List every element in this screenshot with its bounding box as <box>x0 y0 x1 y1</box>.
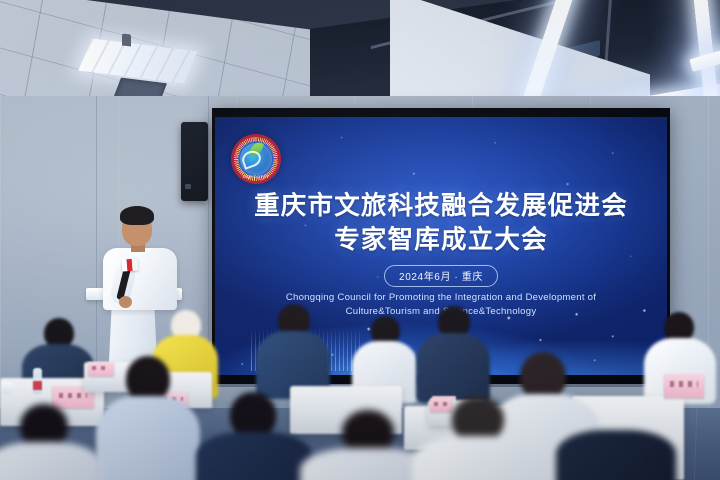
name-card <box>664 374 704 398</box>
audience-member <box>196 392 312 480</box>
screen-title-line-1: 重庆市文旅科技融合发展促进会 <box>254 192 628 220</box>
audience-body <box>416 333 490 403</box>
microphone-flag <box>122 258 139 271</box>
presenter-hair <box>120 206 154 225</box>
presenter-at-podium <box>96 206 188 302</box>
audience-head <box>520 352 566 400</box>
wall-mounted-speaker <box>181 122 208 201</box>
sprinkler-head-icon <box>122 34 131 47</box>
audience-body <box>556 430 676 480</box>
audience-body <box>0 442 102 480</box>
audience-member <box>412 396 544 480</box>
audience-member <box>556 430 676 480</box>
screen-title-line-2: 专家智库成立大会 <box>215 223 667 257</box>
audience-member <box>0 404 102 480</box>
screen-main-title: 重庆市文旅科技融合发展促进会 专家智库成立大会 <box>215 189 667 257</box>
audience-body <box>196 432 312 480</box>
audience-member <box>416 306 490 400</box>
audience-body <box>96 396 200 480</box>
audience-member <box>96 356 200 480</box>
audience-body <box>412 436 544 480</box>
audience-member <box>256 304 330 396</box>
chongqing-council-emblem-icon: CCPIDCTST <box>231 134 281 184</box>
emblem-subtext: CCPIDCTST <box>231 174 281 179</box>
water-bottle <box>33 368 42 394</box>
drinking-cup <box>2 382 13 394</box>
conference-photo-scene: CCPIDCTST 重庆市文旅科技融合发展促进会 专家智库成立大会 2024年6… <box>0 0 720 480</box>
presenter-hand <box>119 296 132 308</box>
